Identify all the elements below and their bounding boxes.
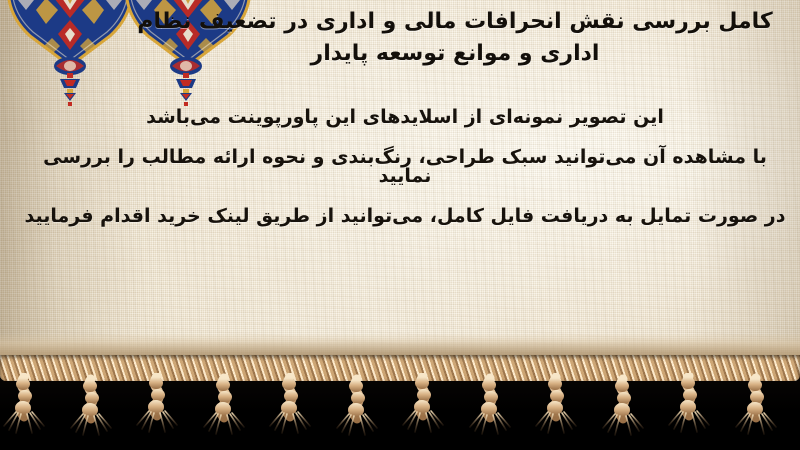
slide-body: این تصویر نمونه‌ای از اسلایدهای این پاور… (20, 108, 790, 247)
slide-text-layer: کامل بررسی نقش انحرافات مالی و اداری در … (0, 0, 800, 355)
carpet-selvedge-edge (0, 333, 800, 355)
slide-body-line-2: با مشاهده آن می‌توانید سبک طراحی، رنگ‌بن… (20, 148, 790, 186)
carpet-fringe-band (0, 355, 800, 450)
slide-title-line-1: کامل بررسی نقش انحرافات مالی و اداری در … (120, 6, 790, 38)
slide-title-line-2: اداری و موانع توسعه پایدار (120, 38, 790, 70)
slide-title: کامل بررسی نقش انحرافات مالی و اداری در … (120, 6, 790, 70)
carpet-tassel-row (0, 373, 800, 450)
slide-body-line-1: این تصویر نمونه‌ای از اسلایدهای این پاور… (20, 108, 790, 127)
slide-canvas: کامل بررسی نقش انحرافات مالی و اداری در … (0, 0, 800, 450)
slide-body-line-3: در صورت تمایل به دریافت فایل کامل، می‌تو… (20, 207, 790, 226)
